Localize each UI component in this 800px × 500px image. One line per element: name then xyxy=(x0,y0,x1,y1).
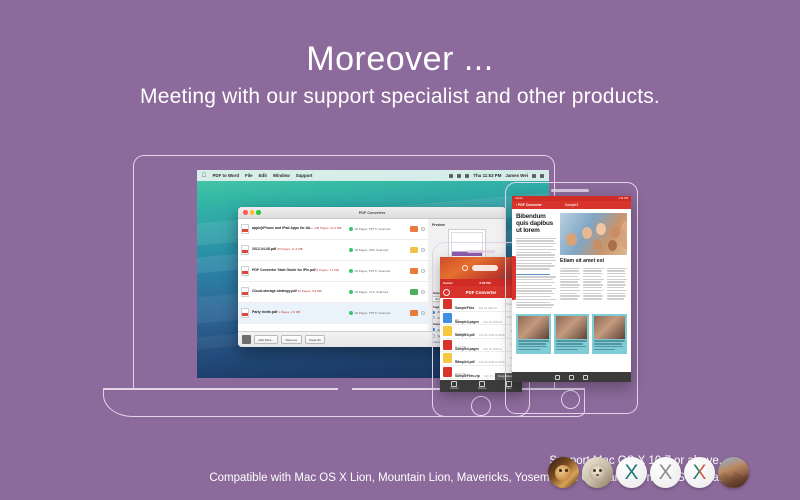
file-status: All Pages, XLS, Scanned xyxy=(355,290,389,294)
laptop-notch xyxy=(338,388,352,391)
photo-card[interactable] xyxy=(592,314,627,354)
add-files-button[interactable]: Add Files... xyxy=(254,335,278,344)
file-meta: 1 Pages, 2.6 MB xyxy=(278,310,300,314)
iphone-speaker xyxy=(467,250,495,253)
os-icon-mavericks: X xyxy=(616,457,647,488)
pdf-file-icon xyxy=(443,367,452,377)
tab-transfer[interactable]: Transfer xyxy=(450,381,459,391)
bookmark-icon[interactable] xyxy=(569,375,574,380)
pdf-file-icon xyxy=(241,245,249,255)
table-row[interactable]: apple)iPhone and iPad Apps for Ab... 108… xyxy=(238,219,428,240)
battery-icon[interactable] xyxy=(465,174,469,178)
preview-heading: Preview xyxy=(432,223,502,227)
home-icon[interactable] xyxy=(583,375,588,380)
status-dot-icon xyxy=(349,248,353,252)
status-dot-icon xyxy=(349,227,353,231)
pdf-file-icon xyxy=(241,266,249,276)
document-photo-cards xyxy=(512,310,631,358)
ipad-carrier: Carrier xyxy=(515,197,523,200)
folder-icon xyxy=(443,313,452,323)
file-options-icon[interactable] xyxy=(421,248,425,252)
output-format-icon[interactable] xyxy=(410,310,418,316)
device-illustration-group:  PDF to Word File Edit Window Support T… xyxy=(0,0,800,500)
ipad-screen: Carrier 1:41 PM ‹ PDF Converter Sample3 … xyxy=(512,196,631,382)
file-name: 2012-04-08.pdf xyxy=(252,247,276,251)
status-dot-icon xyxy=(349,311,353,315)
file-meta: 32 Pages, 6.8 MB xyxy=(298,289,322,293)
menubar-user[interactable]: James Wei xyxy=(505,173,528,178)
pdf-file-icon xyxy=(241,287,249,297)
table-row[interactable]: PDF Converter Start Guide for iPie.pdf 8… xyxy=(238,261,428,282)
file-options-icon[interactable] xyxy=(421,269,425,273)
wifi-icon[interactable] xyxy=(457,174,461,178)
menubar-item-support[interactable]: Support xyxy=(296,173,313,178)
file-options-icon[interactable] xyxy=(421,227,425,231)
spotlight-search-icon[interactable] xyxy=(532,174,536,178)
tab-label: Browse xyxy=(478,387,486,390)
document-heading-1: Bibendum quis dapibus ut lorem xyxy=(516,213,556,235)
file-status: All Pages, PDF, Scanned xyxy=(355,248,389,252)
document-photo xyxy=(560,213,627,255)
pdf-file-icon xyxy=(241,224,249,234)
photo-card[interactable] xyxy=(516,314,551,354)
ipad-home-button[interactable] xyxy=(561,390,580,409)
share-icon[interactable] xyxy=(555,375,560,380)
iphone-carrier: Carrier xyxy=(443,281,453,285)
window-titlebar: PDF Converter xyxy=(238,207,506,219)
ipad-clock: 1:41 PM xyxy=(618,197,628,200)
file-name: Cloud-storage-strategy.pdf xyxy=(252,289,297,293)
ipad-side-tab[interactable] xyxy=(512,256,516,300)
iphone-pill-badge xyxy=(472,265,498,271)
table-row[interactable]: Party Invite.pdf 1 Pages, 2.6 MB All Pag… xyxy=(238,303,428,324)
file-name: PDF Converter Start Guide for iPie.pdf xyxy=(252,268,316,272)
file-status: All Pages, PPTX, Scanned xyxy=(355,311,391,315)
tab-browse[interactable]: Browse xyxy=(478,381,486,391)
file-browser-icon[interactable] xyxy=(242,335,251,344)
notification-center-icon[interactable] xyxy=(540,174,544,178)
status-dot-icon xyxy=(349,269,353,273)
iphone-home-button[interactable] xyxy=(471,396,491,416)
file-name: Party Invite.pdf xyxy=(252,310,277,314)
document-heading-2: Etiam sit amet est xyxy=(560,258,627,264)
menubar-app-name[interactable]: PDF to Word xyxy=(213,173,240,178)
os-version-icon-list: X X X xyxy=(548,452,752,492)
os-glyph: X xyxy=(624,462,638,483)
remove-button[interactable]: Remove xyxy=(281,335,301,344)
clear-all-button[interactable]: Clear All xyxy=(305,335,325,344)
os-icon-el-capitan: X xyxy=(684,457,715,488)
output-format-icon[interactable] xyxy=(410,289,418,295)
status-dot-icon xyxy=(349,290,353,294)
pages-file-icon xyxy=(443,326,452,336)
file-status: All Pages, PPTX, Scanned xyxy=(355,227,391,231)
pdf-file-icon xyxy=(241,308,249,318)
ipad-toolbar xyxy=(512,372,631,382)
pages-file-icon xyxy=(443,353,452,363)
folder-icon xyxy=(443,299,452,309)
bluetooth-icon[interactable] xyxy=(449,174,453,178)
file-options-icon[interactable] xyxy=(421,290,425,294)
ipad-speaker xyxy=(551,189,589,192)
iphone-nav-title: PDF Converter xyxy=(466,290,497,295)
os-icon-sierra xyxy=(718,457,749,488)
iphone-menu-icon[interactable] xyxy=(443,289,450,296)
ipad-document: Bibendum quis dapibus ut lorem xyxy=(512,209,631,310)
menubar-item-window[interactable]: Window xyxy=(273,173,290,178)
table-row[interactable]: Cloud-storage-strategy.pdf 32 Pages, 6.8… xyxy=(238,282,428,303)
window-title: PDF Converter xyxy=(238,211,506,215)
file-list[interactable]: apple)iPhone and iPad Apps for Ab... 108… xyxy=(238,219,428,331)
tab-label: Transfer xyxy=(450,387,459,390)
os-icon-yosemite: X xyxy=(650,457,681,488)
file-name: SampleFiles.zip xyxy=(455,374,480,378)
ipad-nav-title: Sample3 xyxy=(512,203,631,207)
pdf-file-icon xyxy=(443,340,452,350)
output-format-icon[interactable] xyxy=(410,226,418,232)
menubar-item-file[interactable]: File xyxy=(245,173,253,178)
os-glyph: X xyxy=(692,462,706,483)
file-meta: 60 Pages, 11.3 MB xyxy=(277,247,302,251)
file-meta: 8 Pages, 4.1 MB xyxy=(317,268,339,272)
file-meta: 108 Pages, 12.4 MB xyxy=(314,226,341,230)
os-glyph: X xyxy=(658,462,672,483)
apple-logo-icon[interactable]:  xyxy=(202,173,207,179)
file-name: apple)iPhone and iPad Apps for Ab... xyxy=(252,226,313,230)
gear-icon[interactable] xyxy=(462,265,468,271)
file-status: All Pages, PPTX, Scanned xyxy=(355,269,391,273)
os-icon-mountain-lion xyxy=(582,457,613,488)
mac-menubar:  PDF to Word File Edit Window Support T… xyxy=(197,170,549,181)
os-icon-lion xyxy=(548,457,579,488)
photo-card[interactable] xyxy=(554,314,589,354)
output-format-icon[interactable] xyxy=(410,268,418,274)
menubar-clock[interactable]: Thu 11:53 PM xyxy=(473,173,501,178)
file-options-icon[interactable] xyxy=(421,311,425,315)
ipad-nav-bar: ‹ PDF Converter Sample3 xyxy=(512,201,631,209)
output-format-icon[interactable] xyxy=(410,247,418,253)
menubar-item-edit[interactable]: Edit xyxy=(259,173,267,178)
table-row[interactable]: 2012-04-08.pdf 60 Pages, 11.3 MB All Pag… xyxy=(238,240,428,261)
